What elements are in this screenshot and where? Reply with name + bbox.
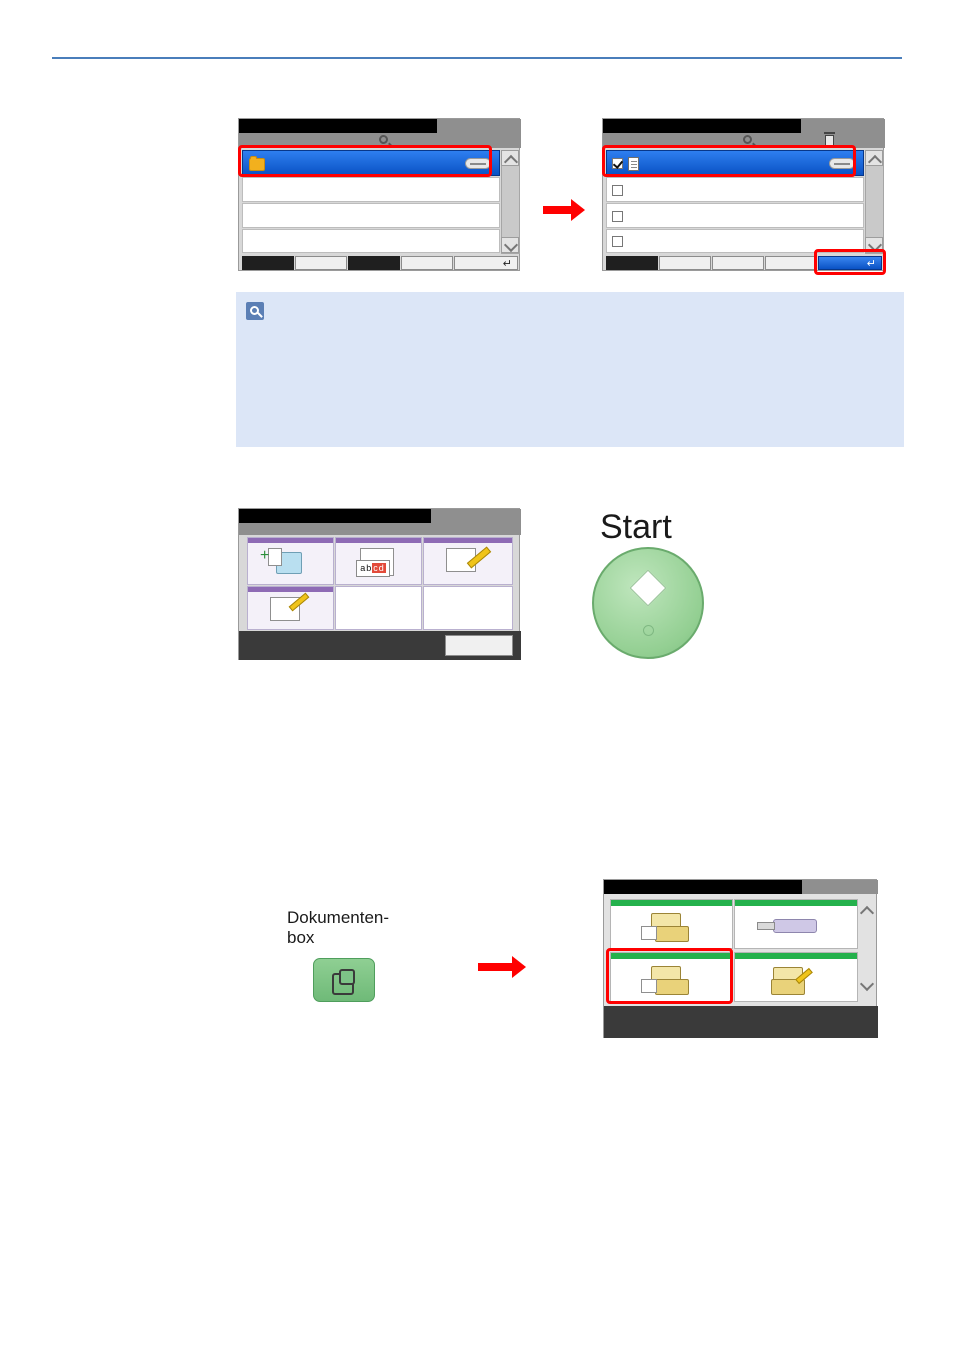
right-touch-panel: ↵ [602,118,884,271]
function-cell[interactable]: + [247,537,334,585]
cell-accent-bar [248,587,333,592]
cell-accent-bar [336,538,421,543]
panel-title-bar [239,119,437,133]
softkey-ok[interactable]: ↵ [454,256,518,270]
folder-icon [249,158,265,171]
cell-accent-bar [735,900,857,906]
cell-accent-bar [424,538,512,543]
document-box-key-label-line1: Dokumenten- [287,908,389,928]
list-row[interactable] [242,203,500,228]
detail-pill-icon[interactable] [465,158,491,169]
softkey-2[interactable] [659,256,711,270]
paper-icon [641,979,657,993]
document-box-key-label-line2: box [287,928,389,948]
start-diamond-icon [630,570,667,607]
panel-title-bar [604,880,802,894]
panel-status-strip [802,880,878,894]
cell-accent-bar [248,538,333,543]
list-row[interactable] [606,229,864,253]
softkey-3[interactable] [712,256,764,270]
chevron-up-icon[interactable] [858,902,876,918]
softkey-ok[interactable]: ↵ [818,256,882,270]
custom-box-base-icon [655,926,689,942]
panel-title-bar [603,119,801,133]
panel-title-bar [239,509,431,523]
search-icon[interactable] [743,135,752,144]
panel-status-strip [801,119,885,133]
enter-icon: ↵ [867,259,876,270]
panel-toolbar-strip [239,523,521,535]
softkey-1[interactable] [606,256,658,270]
list-row[interactable] [242,150,500,176]
document-icon [628,157,639,171]
scroll-up-button[interactable] [865,150,883,166]
list-row[interactable] [606,177,864,202]
header-rule [52,57,902,59]
document-box-cell-usb[interactable] [734,899,858,949]
function-cell[interactable] [247,586,334,630]
softkey-2[interactable] [295,256,347,270]
bottom-softkey[interactable] [445,635,513,656]
start-key-button[interactable] [592,547,704,659]
function-cell[interactable] [423,586,513,630]
scroll-down-button[interactable] [865,237,883,253]
list-row[interactable] [242,229,500,253]
cell-accent-bar [611,953,732,959]
plus-icon: + [260,550,269,562]
left-touch-panel: ↵ [238,118,520,271]
document-box-menu-panel [603,879,877,1038]
cell-accent-bar [735,953,857,959]
softkey-4[interactable] [765,256,817,270]
chevron-down-icon[interactable] [858,977,876,993]
detail-pill-icon[interactable] [829,158,855,169]
document-box-icon [332,973,354,995]
enter-icon: ↵ [503,259,512,270]
usb-connector-icon [757,922,775,930]
cell-accent-bar [611,900,732,906]
row-checkbox[interactable] [612,236,623,247]
softkey-4[interactable] [401,256,453,270]
row-checkbox[interactable] [612,158,623,169]
led-indicator [643,625,654,636]
row-checkbox[interactable] [612,211,623,222]
function-cell[interactable]: abcd [335,537,422,585]
note-magnifier-icon [246,302,264,320]
trash-icon[interactable] [825,135,834,146]
paper-icon [641,926,657,940]
search-icon[interactable] [379,135,388,144]
function-touch-panel: + abcd [238,508,520,660]
panel-status-strip [431,509,521,523]
function-cell[interactable] [335,586,422,630]
document-box-key-button[interactable] [313,958,375,1002]
scroll-down-button[interactable] [501,237,519,253]
list-row[interactable] [242,177,500,202]
document-box-cell-job-box[interactable] [610,952,733,1002]
list-row[interactable] [606,203,864,228]
job-box-base-icon [655,979,689,995]
document-box-cell-fax-box[interactable] [734,952,858,1002]
row-checkbox[interactable] [612,185,623,196]
softkey-1[interactable] [242,256,294,270]
start-key-label: Start [600,508,672,547]
function-cell[interactable] [423,537,513,585]
scroll-up-button[interactable] [501,150,519,166]
abc-ocr-icon: abcd [356,560,390,577]
softkey-3[interactable] [348,256,400,270]
document-box-cell-custom-box[interactable] [610,899,733,949]
panel-bottom-strip [604,1006,878,1038]
note-callout [236,292,904,447]
list-row[interactable] [606,150,864,176]
document-box-key-label: Dokumenten- box [287,908,389,948]
usb-drive-icon [773,919,817,933]
paper-icon [268,548,282,566]
panel-status-strip [437,119,521,133]
